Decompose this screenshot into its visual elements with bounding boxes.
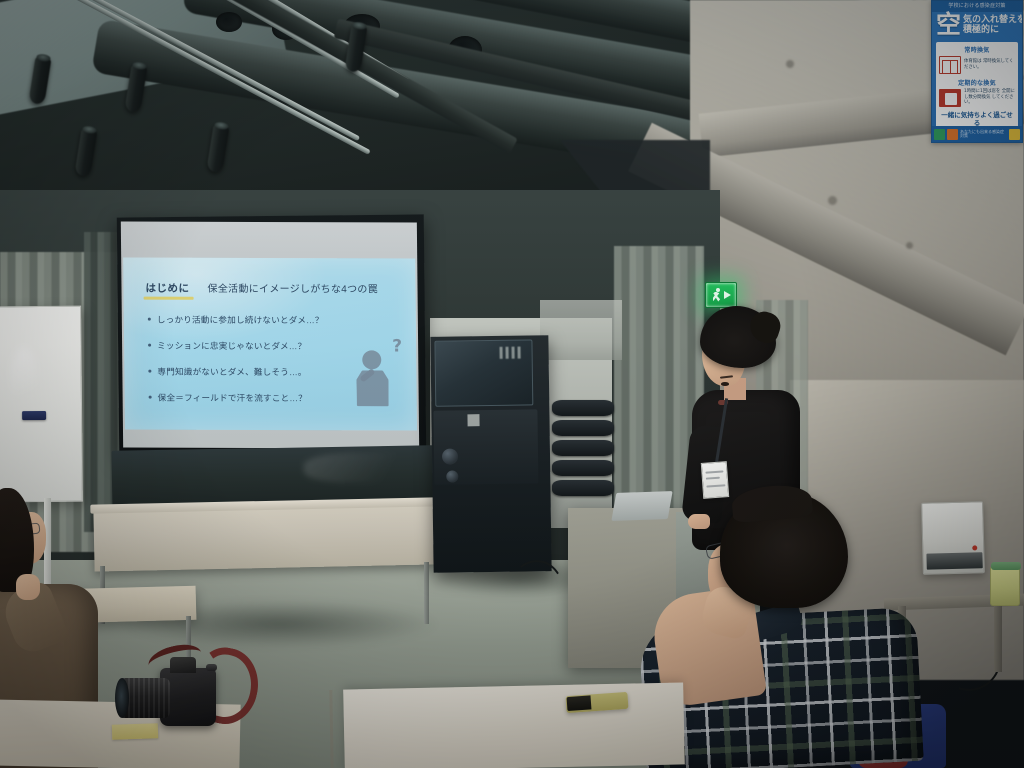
- poster-headline: 空 気の入れ替えを 積極的に: [932, 12, 1022, 40]
- bullet-dot-icon: [149, 396, 152, 399]
- badge-line: [706, 477, 720, 480]
- poster-headline-line1: 気の入れ替えを: [963, 15, 1023, 25]
- duct-opening: [216, 12, 242, 32]
- figure-head: [362, 350, 381, 369]
- projection-screen-frame: はじめに 保全活動にイメージしがちな4つの罠 しっかり活動に参加し続けないとダメ…: [117, 214, 426, 455]
- whiteboard-glare: [11, 347, 38, 407]
- poster-bottom-bar: あなたにも出来る感染症対策: [932, 126, 1022, 142]
- badge-line: [705, 470, 723, 473]
- bullet-dot-icon: [148, 370, 151, 373]
- camera-shutter-button[interactable]: [206, 664, 217, 671]
- slide-bullet-item: 専門知識がないとダメ、難しそう…。: [148, 366, 356, 379]
- stacked-chairs: [552, 400, 614, 520]
- window-icon: [939, 56, 961, 74]
- chair-seat: [552, 420, 614, 436]
- canister: [990, 566, 1020, 606]
- chair-seat: [552, 400, 614, 416]
- ceiling-spotlight: [206, 123, 229, 173]
- right-arrow-icon: [724, 291, 731, 299]
- chair-seat: [552, 480, 614, 496]
- poster-section-title: 常時換気: [939, 45, 1015, 54]
- ventilation-poster: 学校における感染症対策 空 気の入れ替えを 積極的に 常時換気 体育館は 常時換…: [931, 0, 1023, 143]
- bullet-dot-icon: [148, 318, 151, 321]
- slide-bullet-text: 専門知識がないとダメ、難しそう…。: [157, 366, 306, 379]
- slide-bullet-list: しっかり活動に参加し続けないとダメ…？ ミッションに忠実じゃないとダメ…？ 専門…: [148, 314, 357, 419]
- poster-footer-line1: 一緒に気持ちよく過ごせる: [939, 111, 1015, 128]
- av-knob: [442, 448, 458, 464]
- phone-screen: [567, 695, 592, 711]
- emergency-exit-sign: [705, 282, 737, 308]
- projection-screen-surface: はじめに 保全活動にイメージしがちな4つの罠 しっかり活動に参加し続けないとダメ…: [121, 222, 419, 449]
- left-attendee-hand: [16, 574, 40, 600]
- blackboard-glare: [304, 451, 425, 483]
- thinking-person-icon: ?: [354, 342, 401, 408]
- canister-cap: [991, 562, 1021, 570]
- av-equipment-cabinet: [430, 335, 551, 573]
- concrete-texture: [828, 196, 837, 205]
- foreground-table: [343, 682, 685, 768]
- camera-lens-front-element: [115, 678, 129, 718]
- poster-chip-green: [934, 129, 945, 140]
- poster-headline-line2: 積極的に: [963, 25, 1023, 35]
- running-person-icon: [712, 288, 723, 303]
- concrete-texture: [906, 242, 913, 249]
- fan-icon: [939, 89, 961, 107]
- question-mark-icon: ?: [392, 336, 402, 356]
- poster-bottom-text: あなたにも出来る感染症対策: [960, 130, 1007, 139]
- long-table: [93, 504, 434, 571]
- slide-title: はじめに 保全活動にイメージしがちな4つの罠: [145, 280, 403, 297]
- slide-title-keyword: はじめに: [145, 281, 189, 296]
- av-glass-reflection: [500, 347, 524, 359]
- poster-section-text: 体育館は 常時換気してください。: [964, 59, 1015, 71]
- slide-bullet-text: 保全＝フィールドで汗を流すこと…？: [158, 392, 307, 405]
- poster-chip-orange: [947, 129, 958, 140]
- shelf-bracket: [994, 602, 1002, 672]
- slide-bullet-item: しっかり活動に参加し続けないとダメ…？: [148, 314, 356, 327]
- poster-big-character: 空: [936, 14, 961, 37]
- presenter-eyebrow: [720, 375, 733, 379]
- wall-panel-upper: [540, 300, 622, 360]
- badge-line: [706, 484, 725, 487]
- device-indicator-light: [972, 545, 977, 550]
- slide-bullet-text: しっかり活動に参加し続けないとダメ…？: [157, 314, 324, 327]
- slide-bullet-item: ミッションに忠実じゃないとダメ…？: [148, 340, 356, 353]
- presentation-slide: はじめに 保全活動にイメージしがちな4つの罠 しっかり活動に参加し続けないとダメ…: [123, 258, 417, 431]
- poster-section-text: 1時間に1回は窓を 全開にし数分間換気 してください。: [964, 89, 1015, 107]
- photo-scene: 学校における感染症対策 空 気の入れ替えを 積極的に 常時換気 体育館は 常時換…: [0, 0, 1024, 768]
- ceiling-spotlight: [74, 127, 97, 177]
- poster-chip-yellow: [1009, 129, 1020, 140]
- poster-section-constant-ventilation: 常時換気 体育館は 常時換気してください。: [939, 45, 1015, 74]
- camera-viewfinder: [170, 657, 196, 673]
- poster-section-periodic-ventilation: 定期的な換気 1時間に1回は窓を 全開にし数分間換気 してください。: [939, 78, 1015, 107]
- slide-title-main: 保全活動にイメージしがちな4つの罠: [207, 280, 378, 296]
- poster-section-title: 定期的な換気: [939, 78, 1015, 87]
- whiteboard: [0, 306, 83, 503]
- presenter-eye: [721, 382, 729, 386]
- av-glass-door: [434, 339, 533, 406]
- chair-seat: [552, 440, 614, 456]
- presenter-hair: [700, 306, 776, 368]
- table-leg: [424, 562, 429, 624]
- whiteboard-eraser[interactable]: [22, 411, 46, 420]
- slide-bullet-text: ミッションに忠実じゃないとダメ…？: [157, 340, 306, 353]
- dslr-camera[interactable]: [118, 652, 262, 744]
- slide-bullet-item: 保全＝フィールドで汗を流すこと…？: [149, 392, 357, 405]
- av-label-sticker: [467, 414, 479, 426]
- chair-seat: [552, 460, 614, 476]
- bullet-dot-icon: [148, 344, 151, 347]
- concrete-texture: [786, 60, 794, 68]
